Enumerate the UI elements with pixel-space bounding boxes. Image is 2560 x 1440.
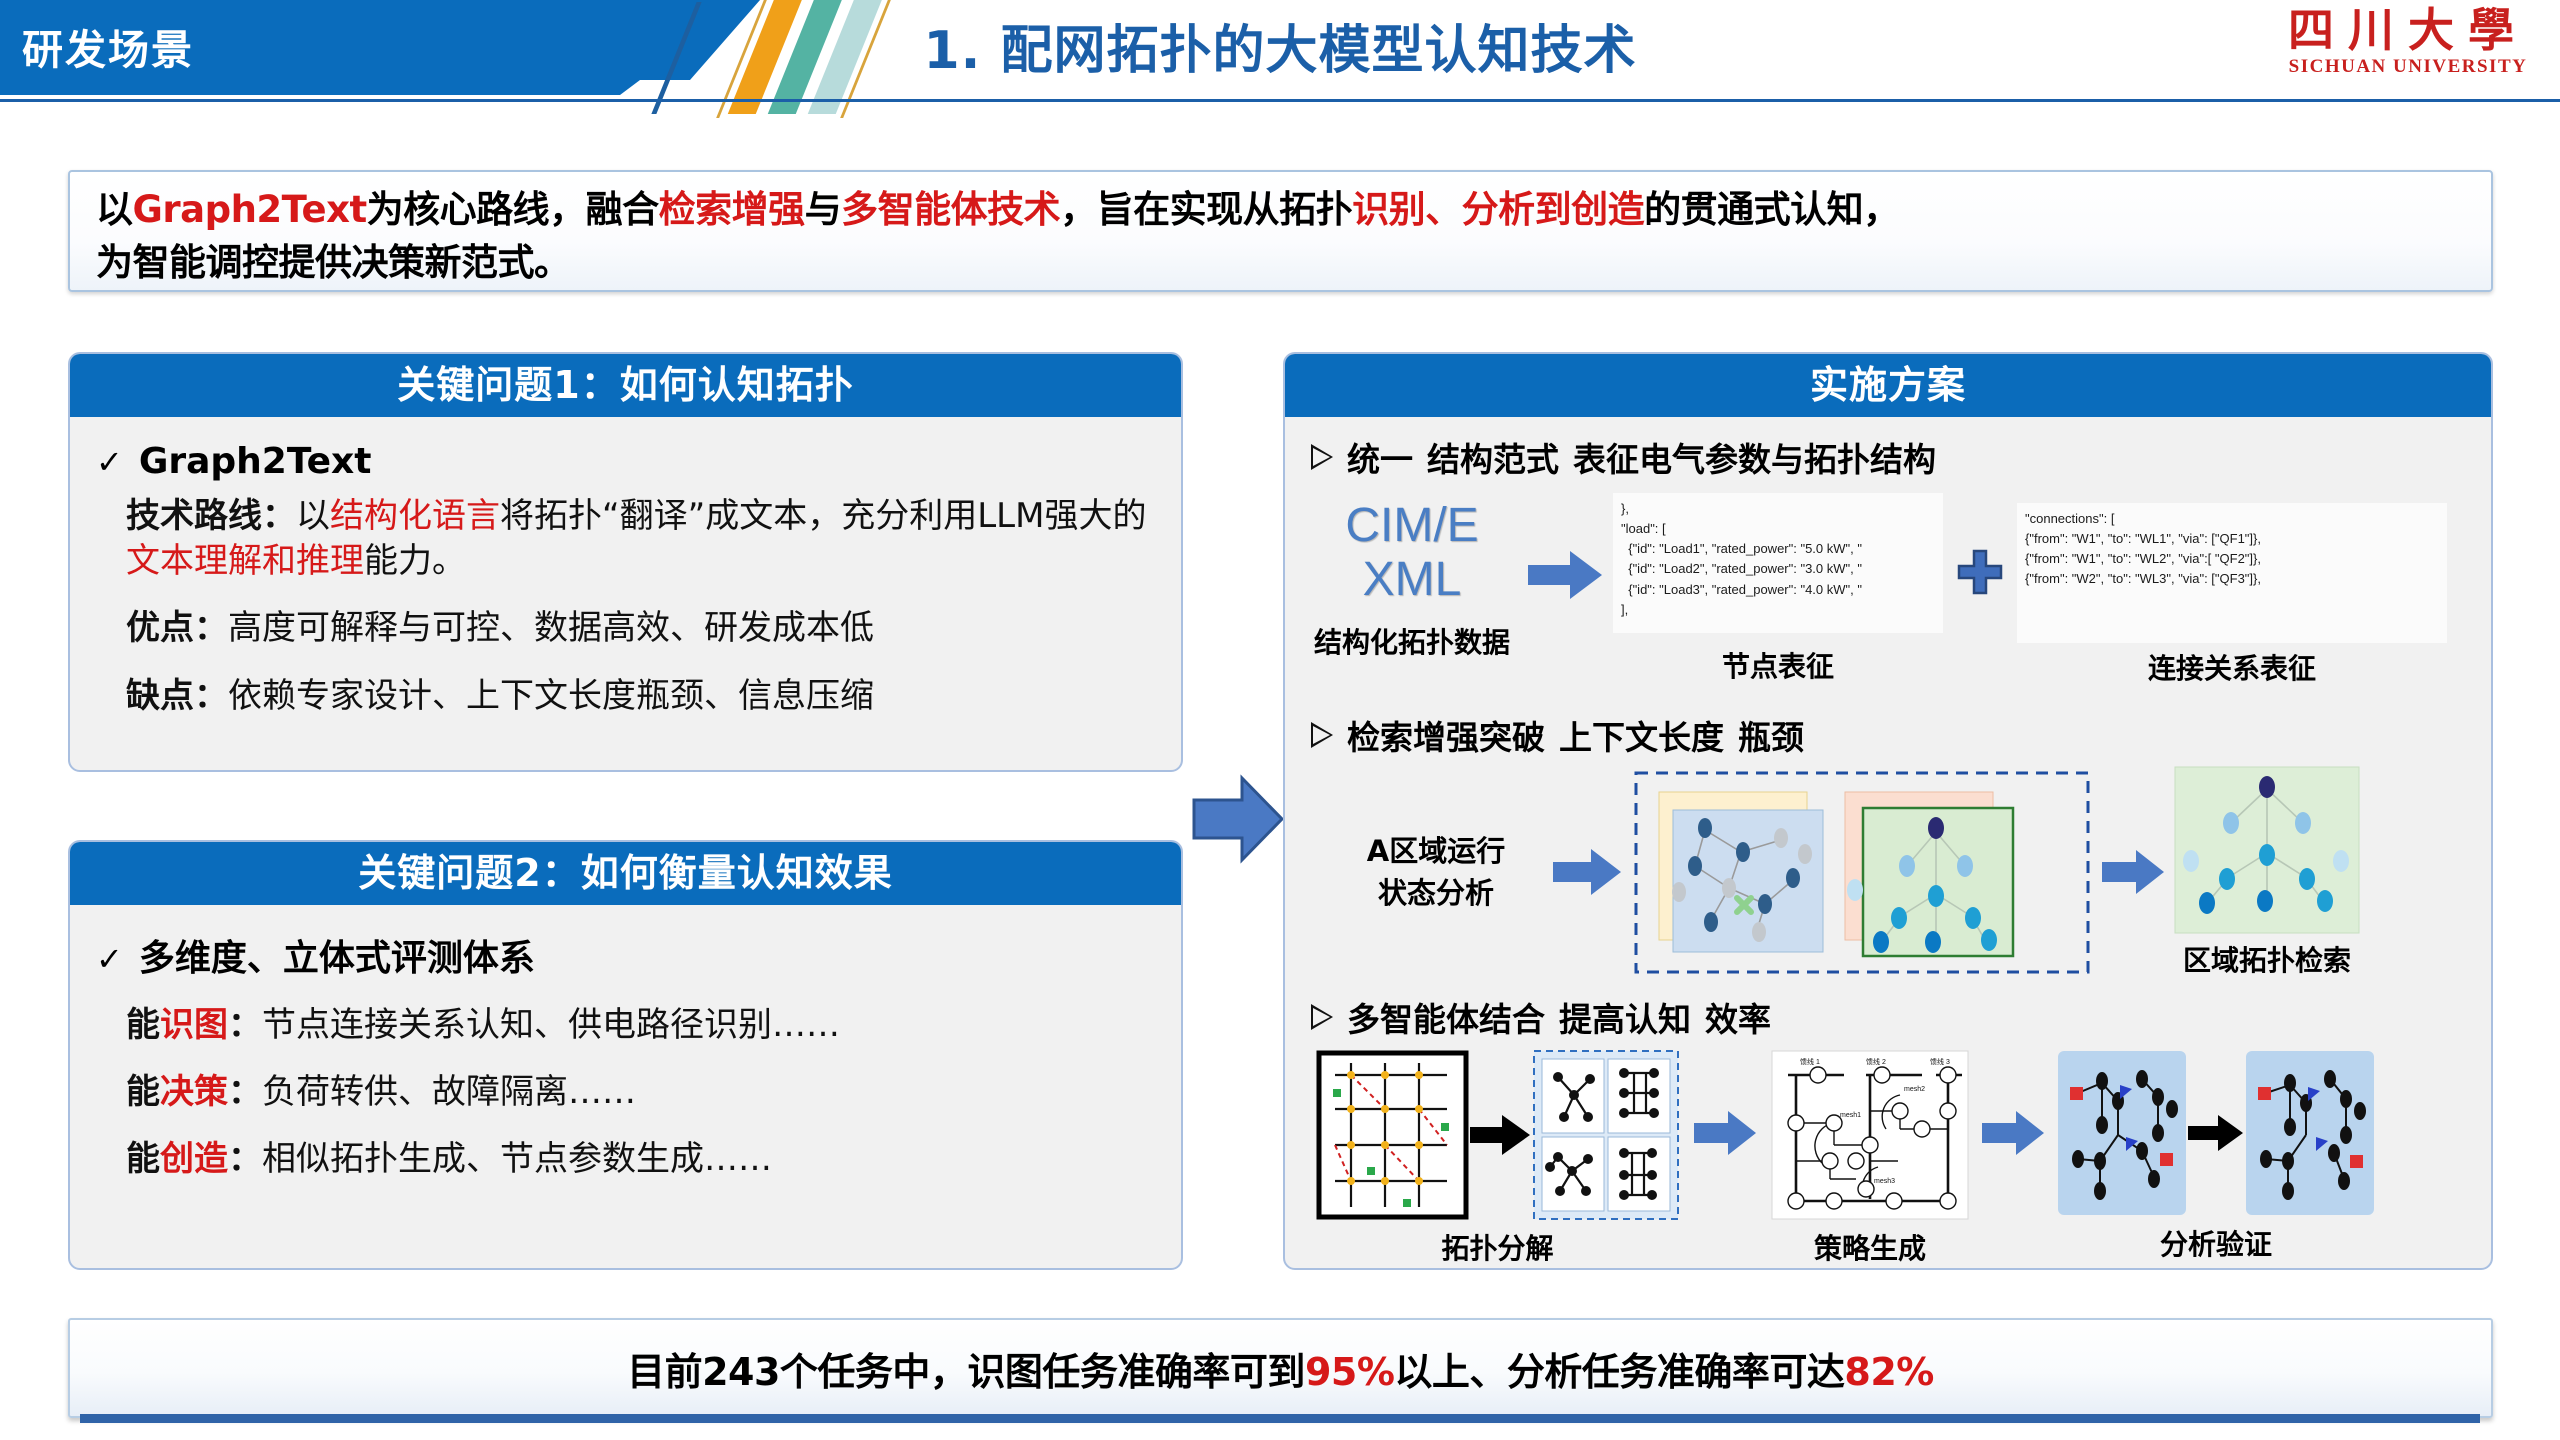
q1-tech-e: 能力。 xyxy=(364,541,466,581)
arrow-source-to-node xyxy=(1517,493,1613,599)
caption-strategy-generation: 策略生成 xyxy=(1770,1227,1970,1267)
panel-q2-header: 关键问题2：如何衡量认知效果 xyxy=(70,842,1181,905)
impl-s1-c: 表征电气参数与拓扑结构 xyxy=(1573,433,1936,481)
checkmark-icon: ✓ xyxy=(96,943,123,975)
impl-s2-diagram: A区域运行 状态分析 xyxy=(1331,765,2475,979)
summary-kw-multiagent: 多智能体技术 xyxy=(841,188,1060,231)
impl-s1-diagram: CIM/E XML 结构化拓扑数据 }, "load": [ {"id": "L… xyxy=(1307,493,2475,687)
mesh-label-2: mesh2 xyxy=(1904,1086,1925,1093)
impl-s3-c: 效率 xyxy=(1705,993,1771,1041)
bullet-arrow-icon xyxy=(1311,722,1333,748)
topology-map-image xyxy=(1315,1049,1470,1221)
footer-metric-95: 95% xyxy=(1305,1350,1394,1394)
panel-impl-header: 实施方案 xyxy=(1285,354,2491,417)
node-representation-group: }, "load": [ {"id": "Load1", "rated_powe… xyxy=(1613,493,1943,685)
connection-representation-group: "connections": [ {"from": "W1", "to": "W… xyxy=(2017,493,2447,687)
panel-q1-body: ✓ Graph2Text 技术路线：以结构化语言将拓扑“翻译”成文本，充分利用L… xyxy=(70,417,1181,733)
footer-text: 目前243个任务中，识图任务准确率可到95%以上、分析任务准确率可达82% xyxy=(627,1341,1934,1396)
impl-section2-title: 检索增强突破上下文长度瓶颈 xyxy=(1311,711,2475,759)
page-header: 研发场景 1. 配网拓扑的大模型认知技术 四川大學 SICHUAN UNIVER… xyxy=(0,0,2560,110)
list-item: 能识图：节点连接关系认知、供电路径识别…… xyxy=(126,1003,1159,1048)
header-divider-rule xyxy=(0,99,2560,102)
code-block-node: }, "load": [ {"id": "Load1", "rated_powe… xyxy=(1613,493,1943,633)
impl-s2-c: 瓶颈 xyxy=(1738,711,1804,759)
logo-chinese-name: 四川大學 xyxy=(2268,6,2548,54)
panel-key-question-2: 关键问题2：如何衡量认知效果 ✓ 多维度、立体式评测体系 能识图：节点连接关系认… xyxy=(68,840,1183,1270)
bullet-arrow-icon xyxy=(1311,1004,1333,1030)
q2-row1-colon: ： xyxy=(228,1072,262,1112)
q2-row0-prefix: 能 xyxy=(126,1005,160,1045)
q2-row0-keyword: 识图 xyxy=(160,1005,228,1045)
q2-row0-text: 节点连接关系认知、供电路径识别…… xyxy=(262,1005,840,1045)
panel-impl-body: 统一结构范式表征电气参数与拓扑结构 CIM/E XML 结构化拓扑数据 }, "… xyxy=(1285,417,2491,1270)
summary-line-1: 以Graph2Text为核心路线，融合检索增强与多智能体技术，旨在实现从拓扑识别… xyxy=(96,184,2465,237)
q1-tech-a: 以 xyxy=(296,496,330,536)
mesh-label-3: mesh3 xyxy=(1874,1178,1895,1185)
impl-s2-kw: 上下文长度 xyxy=(1559,711,1724,759)
q1-tech-c: 将拓扑“翻译”成文本，充分利用LLM强大的 xyxy=(500,496,1146,536)
summary-kw-graph2text: Graph2Text xyxy=(133,188,367,231)
caption-connection-representation: 连接关系表征 xyxy=(2017,647,2447,687)
caption-region-retrieval: 区域拓扑检索 xyxy=(2173,939,2361,979)
code-block-connections: "connections": [ {"from": "W1", "to": "W… xyxy=(2017,503,2447,643)
arrow-before-to-after xyxy=(2188,1113,2244,1153)
region-label-line1: A区域运行 xyxy=(1331,830,1541,872)
q1-tech-kw1: 结构化语言 xyxy=(330,496,500,536)
list-item: 能决策：负荷转供、故障隔离…… xyxy=(126,1070,1159,1115)
arrow-graphs-to-result xyxy=(2093,850,2173,894)
university-logo: 四川大學 SICHUAN UNIVERSITY xyxy=(2268,4,2548,100)
caption-topology-decomposition: 拓扑分解 xyxy=(1315,1227,1680,1267)
impl-s1-kw: 结构范式 xyxy=(1427,433,1559,481)
summary-kw-recognize: 识别、分析到创造 xyxy=(1352,188,1644,231)
strategy-diagram: 馈线 1 馈线 2 馈线 3 mesh1 mesh2 mesh3 xyxy=(1770,1049,1970,1221)
source-label-xml: XML xyxy=(1307,553,1517,607)
impl-s2-a: 检索增强突破 xyxy=(1347,711,1545,759)
q1-cons-text: 依赖专家设计、上下文长度瓶颈、信息压缩 xyxy=(228,676,874,716)
q1-pros: 优点：高度可解释与可控、数据高效、研发成本低 xyxy=(126,606,1159,651)
caption-analysis-validation: 分析验证 xyxy=(2056,1223,2376,1263)
impl-s3-kw: 提高认知 xyxy=(1559,993,1691,1041)
footer-summary-box: 目前243个任务中，识图任务准确率可到95%以上、分析任务准确率可达82% xyxy=(68,1318,2493,1418)
page-title: 1. 配网拓扑的大模型认知技术 xyxy=(0,8,2560,83)
impl-section1-title: 统一结构范式表征电气参数与拓扑结构 xyxy=(1311,433,2475,481)
arrow-strategy-to-validation xyxy=(1970,1049,2056,1155)
summary-text-2: 为核心路线，融合 xyxy=(367,188,659,231)
stage-topology-decomposition: 拓扑分解 xyxy=(1315,1049,1680,1267)
feeder-label-3: 馈线 3 xyxy=(1930,1057,1950,1066)
stage-analysis-validation: 分析验证 xyxy=(2056,1049,2376,1263)
q1-check-row: ✓ Graph2Text xyxy=(96,441,1159,482)
panel-key-question-1: 关键问题1：如何认知拓扑 ✓ Graph2Text 技术路线：以结构化语言将拓扑… xyxy=(68,352,1183,772)
q2-row1-prefix: 能 xyxy=(126,1072,160,1112)
summary-line-2: 为智能调控提供决策新范式。 xyxy=(96,237,2465,290)
validation-after-graph xyxy=(2244,1049,2376,1217)
q1-pros-label: 优点： xyxy=(126,608,228,648)
stage-strategy-generation: 馈线 1 馈线 2 馈线 3 mesh1 mesh2 mesh3 策略生成 xyxy=(1770,1049,1970,1267)
q1-tech-label: 技术路线： xyxy=(126,496,296,536)
panel-implementation: 实施方案 统一结构范式表征电气参数与拓扑结构 CIM/E XML 结构化拓扑数据… xyxy=(1283,352,2493,1270)
list-item: 能创造：相似拓扑生成、节点参数生成…… xyxy=(126,1137,1159,1182)
q2-check-row: ✓ 多维度、立体式评测体系 xyxy=(96,929,1159,981)
q2-row1-text: 负荷转供、故障隔离…… xyxy=(262,1072,636,1112)
footer-c: 以上、分析任务准确率可达 xyxy=(1394,1350,1844,1394)
summary-box: 以Graph2Text为核心路线，融合检索增强与多智能体技术，旨在实现从拓扑识别… xyxy=(68,170,2493,292)
graph-card-stack xyxy=(1633,770,2093,975)
checkmark-icon: ✓ xyxy=(96,446,123,478)
q2-row2-text: 相似拓扑生成、节点参数生成…… xyxy=(262,1139,772,1179)
q1-tech-route: 技术路线：以结构化语言将拓扑“翻译”成文本，充分利用LLM强大的文本理解和推理能… xyxy=(126,494,1159,584)
mesh-label-1: mesh1 xyxy=(1840,1112,1861,1119)
arrow-topo-to-subgraphs xyxy=(1470,1113,1532,1157)
q2-row2-colon: ： xyxy=(228,1139,262,1179)
footer-accent-bar xyxy=(80,1414,2480,1423)
q2-row2-keyword: 创造 xyxy=(160,1139,228,1179)
q1-item-label: Graph2Text xyxy=(139,441,372,482)
caption-node-representation: 节点表征 xyxy=(1613,645,1943,685)
source-format-group: CIM/E XML 结构化拓扑数据 xyxy=(1307,493,1517,661)
summary-text-5: 的贯通式认知， xyxy=(1644,188,1900,231)
summary-text-1: 以 xyxy=(96,188,133,231)
impl-s3-a: 多智能体结合 xyxy=(1347,993,1545,1041)
q1-cons-label: 缺点： xyxy=(126,676,228,716)
validation-before-graph xyxy=(2056,1049,2188,1217)
q1-tech-kw2: 文本理解和推理 xyxy=(126,541,364,581)
impl-section3-title: 多智能体结合提高认知效率 xyxy=(1311,993,2475,1041)
q1-cons: 缺点：依赖专家设计、上下文长度瓶颈、信息压缩 xyxy=(126,674,1159,719)
summary-kw-retrieval: 检索增强 xyxy=(659,188,805,231)
footer-metric-82: 82% xyxy=(1844,1350,1933,1394)
feeder-label-1: 馈线 1 xyxy=(1800,1057,1820,1066)
arrow-analysis-to-graphs xyxy=(1541,849,1633,895)
plus-symbol-group xyxy=(1943,493,2017,595)
q2-row0-colon: ： xyxy=(228,1005,262,1045)
retrieved-region-group: 区域拓扑检索 xyxy=(2173,765,2361,979)
source-label-cime: CIM/E xyxy=(1307,499,1517,553)
q2-item-label: 多维度、立体式评测体系 xyxy=(139,929,535,981)
flow-arrow-left-to-right xyxy=(1190,772,1286,866)
plus-icon xyxy=(1957,549,2003,595)
bullet-arrow-icon xyxy=(1311,444,1333,470)
feeder-label-2: 馈线 2 xyxy=(1866,1057,1886,1066)
q2-row2-prefix: 能 xyxy=(126,1139,160,1179)
panel-q2-body: ✓ 多维度、立体式评测体系 能识图：节点连接关系认知、供电路径识别…… 能决策：… xyxy=(70,905,1181,1197)
caption-structured-data: 结构化拓扑数据 xyxy=(1307,621,1517,661)
impl-s1-a: 统一 xyxy=(1347,433,1413,481)
summary-text-3: 与 xyxy=(805,188,842,231)
arrow-decomp-to-strategy xyxy=(1680,1049,1770,1155)
panel-q1-header: 关键问题1：如何认知拓扑 xyxy=(70,354,1181,417)
q1-pros-text: 高度可解释与可控、数据高效、研发成本低 xyxy=(228,608,874,648)
region-analysis-label: A区域运行 状态分析 xyxy=(1331,830,1541,914)
footer-a: 目前243个任务中，识图任务准确率可到 xyxy=(627,1350,1305,1394)
impl-s3-diagram: 拓扑分解 xyxy=(1315,1049,2475,1267)
subgraph-grid xyxy=(1532,1049,1680,1221)
region-label-line2: 状态分析 xyxy=(1331,872,1541,914)
summary-text-4: ，旨在实现从拓扑 xyxy=(1060,188,1352,231)
logo-english-name: SICHUAN UNIVERSITY xyxy=(2268,56,2548,78)
q2-row1-keyword: 决策 xyxy=(160,1072,228,1112)
